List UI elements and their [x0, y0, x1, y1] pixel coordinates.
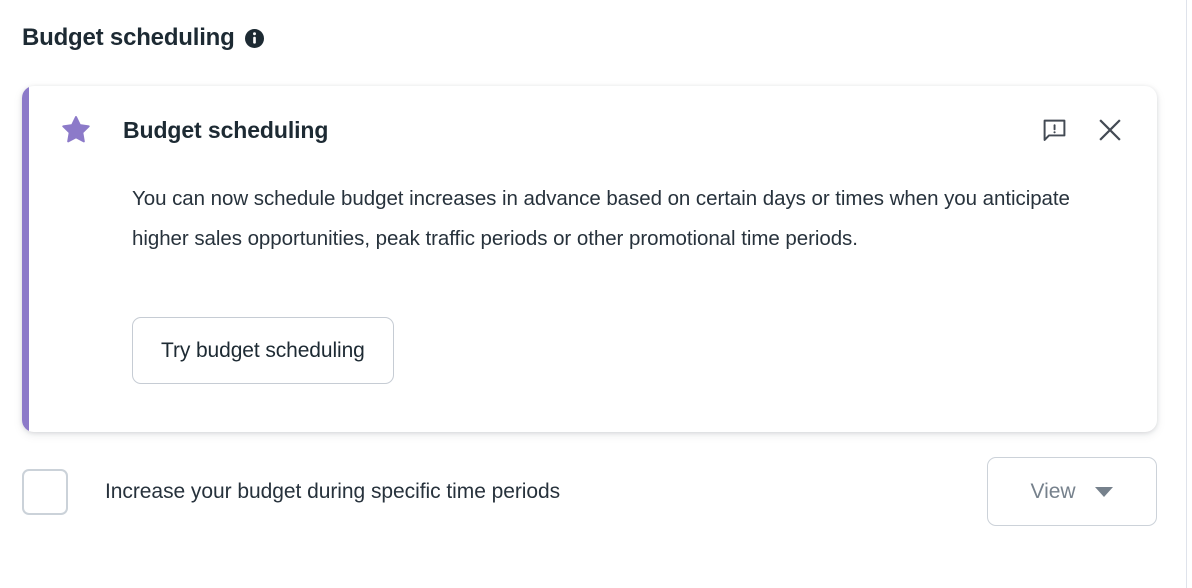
close-icon[interactable]	[1095, 115, 1125, 145]
feedback-icon[interactable]	[1039, 115, 1069, 145]
view-dropdown-label: View	[1031, 480, 1076, 504]
try-budget-scheduling-button[interactable]: Try budget scheduling	[132, 317, 394, 384]
promo-card: Budget scheduling You can now schedule b…	[22, 86, 1157, 432]
view-dropdown-button[interactable]: View	[987, 457, 1157, 526]
page-title-row: Budget scheduling	[22, 26, 264, 50]
panel-divider	[1186, 0, 1187, 588]
promo-card-actions	[1039, 115, 1125, 145]
info-icon[interactable]	[245, 29, 264, 48]
promo-card-title: Budget scheduling	[123, 117, 328, 144]
star-icon	[29, 115, 91, 145]
promo-card-header: Budget scheduling	[29, 108, 1157, 152]
chevron-down-icon	[1095, 487, 1113, 497]
increase-budget-label: Increase your budget during specific tim…	[105, 480, 560, 504]
page-title: Budget scheduling	[22, 26, 235, 50]
promo-accent-bar	[22, 86, 29, 432]
budget-schedule-option-row: Increase your budget during specific tim…	[22, 458, 1157, 525]
promo-card-body: You can now schedule budget increases in…	[132, 179, 1132, 259]
increase-budget-checkbox[interactable]	[22, 469, 68, 515]
